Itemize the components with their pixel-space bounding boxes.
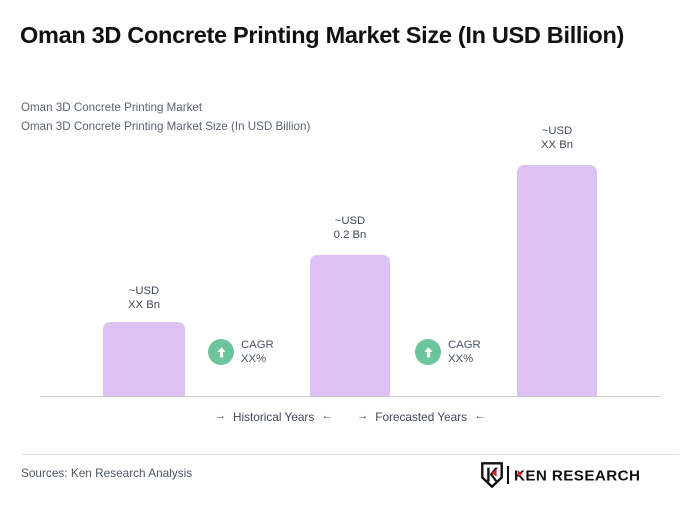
axis-baseline: [40, 396, 660, 397]
cagr-label: CAGR: [241, 338, 274, 352]
arrow-right-icon: →: [357, 411, 369, 423]
brand-logo: KEN RESEARCH: [481, 462, 661, 488]
cagr-label: CAGR: [448, 338, 481, 352]
bar-value-label-line-2: XX Bn: [103, 298, 185, 312]
bar-value-label-line-1: ~USD: [516, 124, 598, 138]
arrow-up-icon: [415, 339, 441, 365]
bar-value-label-line-2: 0.2 Bn: [309, 228, 391, 242]
ken-research-shield-icon: [481, 462, 503, 488]
logo-divider: [507, 466, 509, 484]
plot-area: ~USD XX Bn CAGR XX% ~USD 0.2 Bn: [0, 0, 700, 400]
bar-value-label: ~USD XX Bn: [516, 124, 598, 152]
period-label: Historical Years: [233, 410, 314, 424]
cagr-badge-historical: CAGR XX%: [208, 338, 274, 366]
bar-value-label-line-1: ~USD: [103, 284, 185, 298]
cagr-value: XX%: [241, 352, 274, 366]
period-legend: → Historical Years ← → Forecasted Years …: [0, 410, 700, 424]
chart-page: Oman 3D Concrete Printing Market Size (I…: [0, 0, 700, 520]
period-label: Forecasted Years: [375, 410, 467, 424]
cagr-badge-text: CAGR XX%: [448, 338, 481, 366]
footer-divider: [21, 454, 679, 455]
bar-historical[interactable]: [103, 322, 185, 397]
arrow-left-icon: ←: [474, 411, 486, 423]
svg-text:KEN RESEARCH: KEN RESEARCH: [514, 467, 640, 483]
bar-forecasted[interactable]: [517, 165, 597, 397]
cagr-badge-forecast: CAGR XX%: [415, 338, 481, 366]
bar-value-label-line-2: XX Bn: [516, 138, 598, 152]
bar-value-label: ~USD 0.2 Bn: [309, 214, 391, 242]
arrow-left-icon: ←: [321, 411, 333, 423]
arrow-right-icon: →: [214, 411, 226, 423]
bar-current[interactable]: [310, 255, 390, 397]
period-historical: → Historical Years ←: [214, 410, 332, 424]
period-forecasted: → Forecasted Years ←: [357, 410, 486, 424]
sources-text: Sources: Ken Research Analysis: [21, 466, 192, 480]
cagr-badge-text: CAGR XX%: [241, 338, 274, 366]
cagr-value: XX%: [448, 352, 481, 366]
ken-research-wordmark: KEN RESEARCH: [514, 467, 661, 484]
bar-value-label-line-1: ~USD: [309, 214, 391, 228]
bar-value-label: ~USD XX Bn: [103, 284, 185, 312]
arrow-up-icon: [208, 339, 234, 365]
